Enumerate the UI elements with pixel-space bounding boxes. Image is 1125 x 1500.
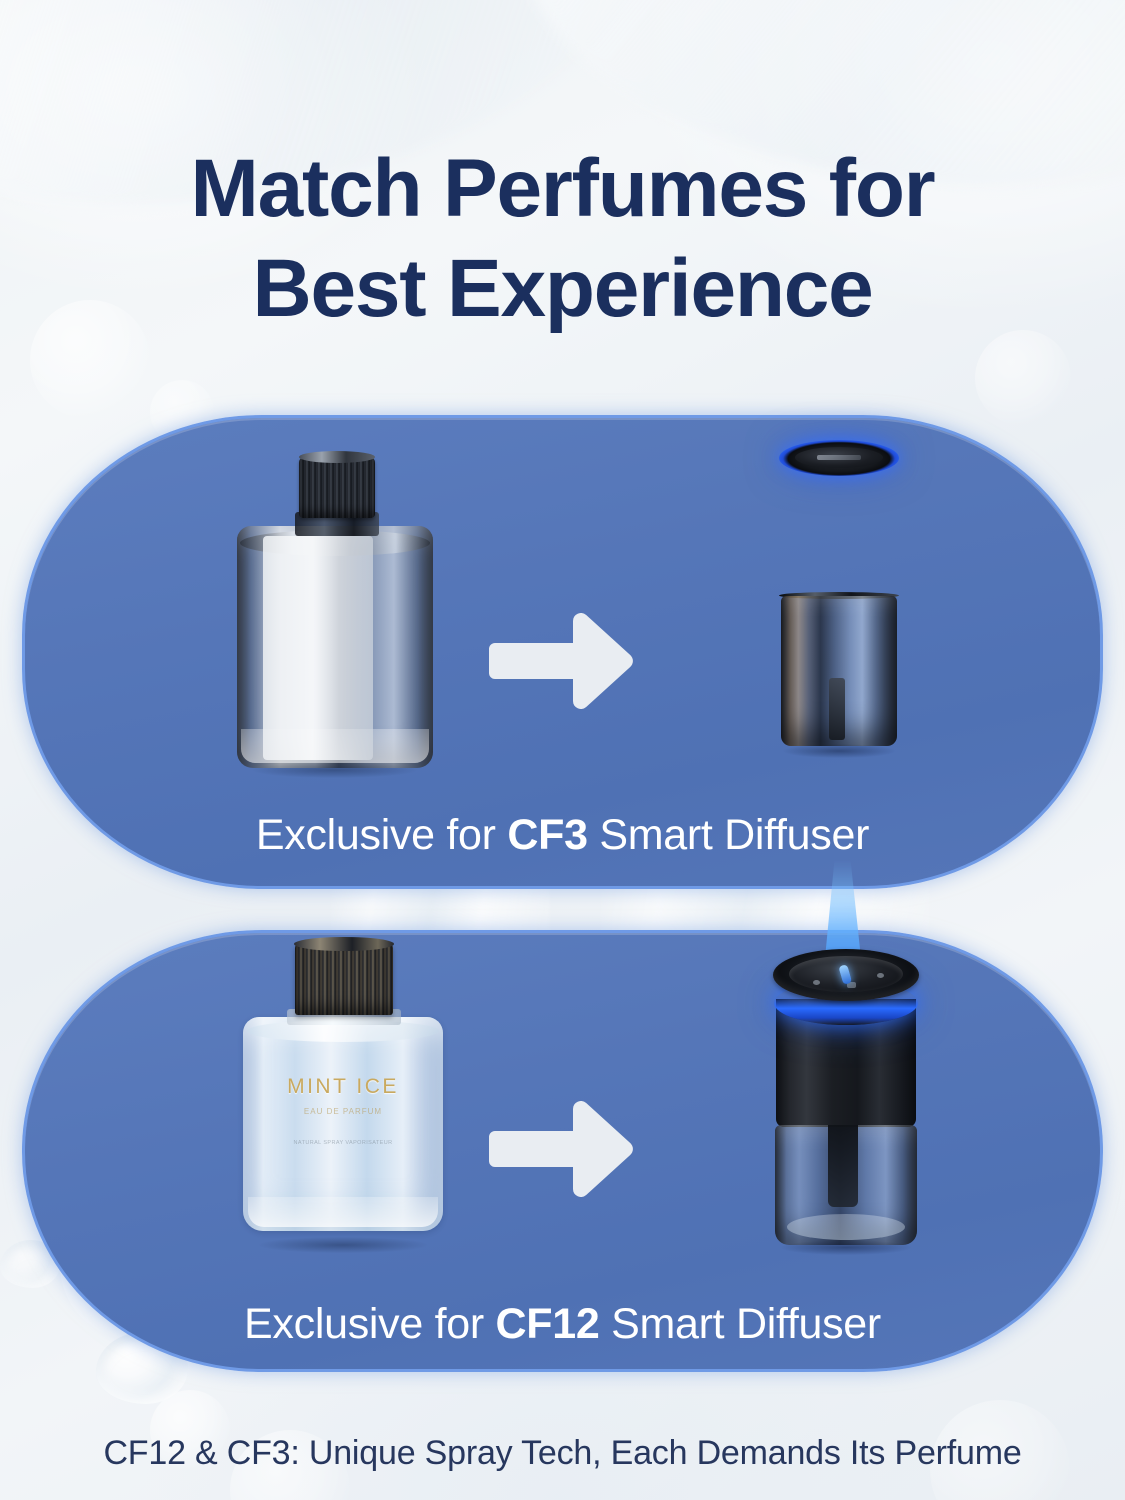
bottle-shadow — [253, 762, 417, 778]
bottle-label-fineprint: NATURAL SPRAY VAPORISATEUR — [271, 1139, 415, 1148]
bottle-shadow — [259, 1237, 427, 1253]
product-pairing-card-cf12: MINT ICE EAU DE PARFUM NATURAL SPRAY VAP… — [22, 930, 1103, 1372]
diffuser-upper-body — [779, 458, 899, 598]
caption-model: CF3 — [507, 811, 587, 859]
caption-prefix: Exclusive for — [244, 1300, 496, 1348]
bottle-cap — [299, 456, 375, 518]
diffuser-shadow — [781, 1240, 911, 1255]
background-bokeh — [975, 330, 1071, 426]
card-caption-cf12: Exclusive for CF12 Smart Diffuser — [25, 1300, 1100, 1349]
diffuser-reservoir — [775, 1125, 917, 1245]
bottle-label-subtitle: EAU DE PARFUM — [243, 1106, 443, 1118]
diffuser-brand-logo — [817, 455, 861, 460]
card-caption-cf3: Exclusive for CF3 Smart Diffuser — [25, 811, 1100, 860]
page-title-line-2: Best Experience — [0, 239, 1125, 339]
arrow-right-icon — [489, 613, 637, 709]
caption-suffix: Smart Diffuser — [600, 1300, 881, 1348]
diffuser-control-icon — [877, 973, 884, 978]
mint-ice-perfume-bottle-image: MINT ICE EAU DE PARFUM NATURAL SPRAY VAP… — [243, 943, 443, 1243]
cf3-smart-diffuser-image — [777, 440, 901, 748]
caption-prefix: Exclusive for — [256, 811, 508, 859]
caption-model: CF12 — [496, 1300, 600, 1348]
bottle-body — [243, 1017, 443, 1231]
diffuser-reservoir — [781, 596, 897, 746]
cf3-refill-bottle-image — [237, 456, 433, 768]
bottle-liquid — [263, 536, 373, 760]
diffuser-control-icon — [813, 980, 820, 985]
page-title: Match Perfumes for Best Experience — [0, 139, 1125, 339]
caption-suffix: Smart Diffuser — [588, 811, 869, 859]
card-stage-cf3 — [25, 418, 1100, 763]
bottle-label-name: MINT ICE — [243, 1075, 443, 1099]
cf12-smart-diffuser-image — [773, 949, 919, 1245]
bottle-cap — [295, 943, 393, 1015]
arrow-right-icon — [489, 1101, 637, 1197]
footer-note: CF12 & CF3: Unique Spray Tech, Each Dema… — [0, 1434, 1125, 1473]
page-title-line-1: Match Perfumes for — [0, 139, 1125, 239]
card-stage-cf12: MINT ICE EAU DE PARFUM NATURAL SPRAY VAP… — [25, 933, 1100, 1251]
diffuser-shadow — [783, 744, 895, 758]
product-pairing-card-cf3: Exclusive for CF3 Smart Diffuser — [22, 415, 1103, 889]
product-infographic-page: Match Perfumes for Best Experience — [0, 0, 1125, 1500]
